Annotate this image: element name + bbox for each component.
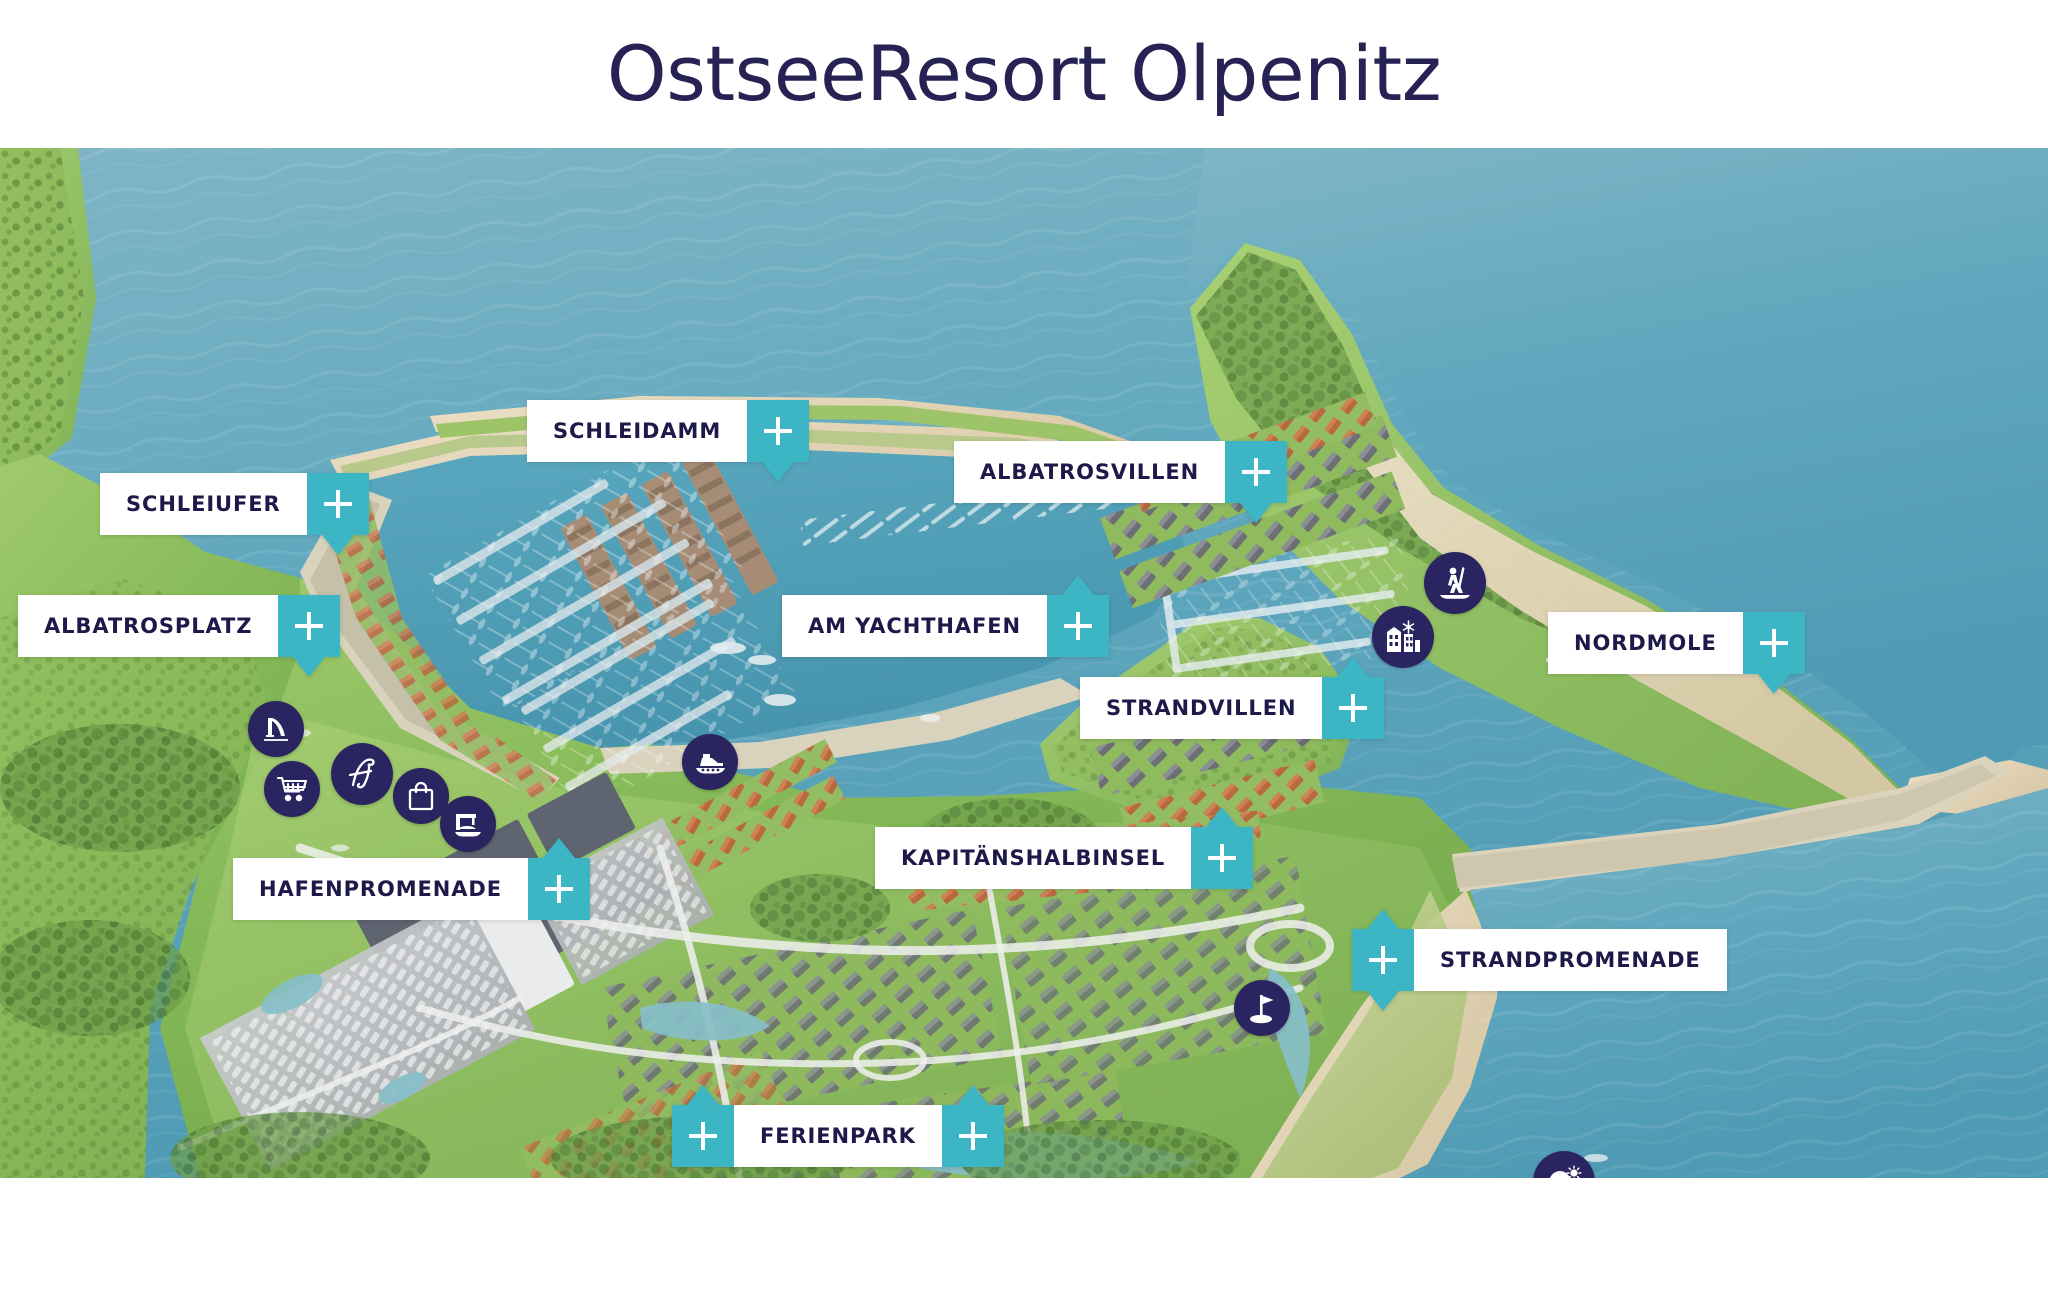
page-title: OstseeResort Olpenitz <box>607 36 1441 112</box>
plus-button-nordmole[interactable] <box>1743 612 1805 674</box>
hotspot-label: KAPITÄNSHALBINSEL <box>875 827 1191 889</box>
f-monogram-icon[interactable] <box>331 743 393 805</box>
plus-button-strandvillen[interactable] <box>1322 677 1384 739</box>
resort-map-page: OstseeResort Olpenitz <box>0 0 2048 1303</box>
shopping-cart-icon[interactable] <box>264 761 320 817</box>
golf-flag-icon[interactable] <box>1234 980 1290 1036</box>
hotspot-label: SCHLEIUFER <box>100 473 307 535</box>
resort-building-icon[interactable] <box>1372 606 1434 668</box>
hotspot-label: SCHLEIDAMM <box>527 400 747 462</box>
plus-button-am-yachthafen[interactable] <box>1047 595 1109 657</box>
hotspot-schleiufer[interactable]: SCHLEIUFER <box>100 473 369 535</box>
hotspot-label: ALBATROSVILLEN <box>954 441 1225 503</box>
hotspot-label: FERIENPARK <box>734 1105 942 1167</box>
hotspot-albatrosvillen[interactable]: ALBATROSVILLEN <box>954 441 1287 503</box>
hotspot-label: STRANDVILLEN <box>1080 677 1322 739</box>
hotspot-ferienpark[interactable]: FERIENPARK <box>672 1105 1004 1167</box>
motorboat-icon[interactable] <box>682 734 738 790</box>
page-footer-spacer <box>0 1178 2048 1303</box>
hotspot-label: NORDMOLE <box>1548 612 1743 674</box>
hotspot-strandpromenade[interactable]: STRANDPROMENADE <box>1352 929 1727 991</box>
hotspot-kapitaenshalbinsel[interactable]: KAPITÄNSHALBINSEL <box>875 827 1253 889</box>
hotspot-label: HAFENPROMENADE <box>233 858 528 920</box>
hotspot-label: STRANDPROMENADE <box>1414 929 1727 991</box>
hotspot-strandvillen[interactable]: STRANDVILLEN <box>1080 677 1384 739</box>
interactive-resort-map[interactable]: SCHLEIDAMM SCHLEIUFER ALBATROSVILLEN ALB… <box>0 148 2048 1178</box>
hotspot-am-yachthafen[interactable]: AM YACHTHAFEN <box>782 595 1109 657</box>
plus-button-albatrosvillen[interactable] <box>1225 441 1287 503</box>
plus-button-ferienpark-right[interactable] <box>942 1105 1004 1167</box>
boat-crane-icon[interactable] <box>440 796 496 852</box>
plus-button-schleiufer[interactable] <box>307 473 369 535</box>
hotspot-label: ALBATROSPLATZ <box>18 595 278 657</box>
hotspot-hafenpromenade[interactable]: HAFENPROMENADE <box>233 858 590 920</box>
plus-button-ferienpark-left[interactable] <box>672 1105 734 1167</box>
hotspot-label: AM YACHTHAFEN <box>782 595 1047 657</box>
hotspot-nordmole[interactable]: NORDMOLE <box>1548 612 1805 674</box>
plus-button-hafenpromenade[interactable] <box>528 858 590 920</box>
paddleboard-icon[interactable] <box>1424 552 1486 614</box>
page-header: OstseeResort Olpenitz <box>0 0 2048 148</box>
plus-button-strandpromenade[interactable] <box>1352 929 1414 991</box>
plus-button-kapitaenshalbinsel[interactable] <box>1191 827 1253 889</box>
hotspot-albatrosplatz[interactable]: ALBATROSPLATZ <box>18 595 340 657</box>
plus-button-schleidamm[interactable] <box>747 400 809 462</box>
plus-button-albatrosplatz[interactable] <box>278 595 340 657</box>
hotspot-schleidamm[interactable]: SCHLEIDAMM <box>527 400 809 462</box>
water-slide-icon[interactable] <box>248 701 304 757</box>
